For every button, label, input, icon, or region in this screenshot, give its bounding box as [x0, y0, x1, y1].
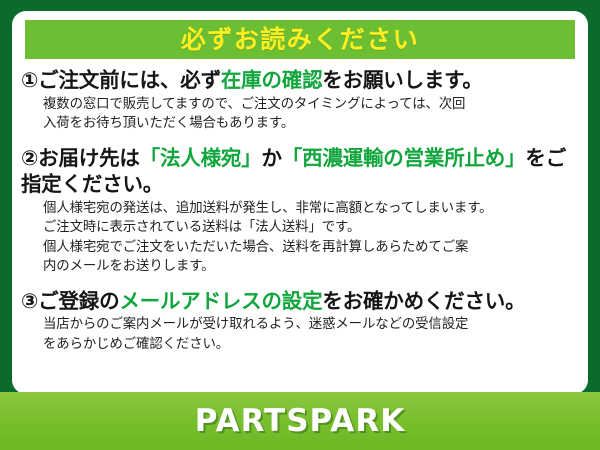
item-2-subtext-line-3: 個人様宅宛でご注文をいただいた場合、送料を再計算しあらためてご案 [43, 238, 579, 257]
brand-logo-text: PARTSPARK [195, 406, 406, 437]
item-2-head-highlight-1: 「法人様宛」 [140, 146, 262, 170]
item-2-head-part-3: か [261, 146, 281, 170]
list-item: ①ご注文前には、必ず在庫の確認をお願いします。 複数の窓口で販売してますので、ご… [21, 67, 579, 134]
item-3-head-highlight: メールアドレスの設定 [119, 289, 322, 313]
notice-title-bar: 必ずお読みください [25, 20, 575, 59]
item-1-subtext: 複数の窓口で販売してますので、ご注文のタイミングによっては、次回 入荷をお待ち頂… [43, 95, 579, 134]
item-1-head-highlight: 在庫の確認 [221, 68, 323, 92]
item-1-subtext-line-1: 複数の窓口で販売してますので、ご注文のタイミングによっては、次回 [43, 95, 579, 114]
item-2-subtext: 個人様宅宛の発送は、追加送料が発生し、非常に高額となってしまいます。 ご注文時に… [43, 199, 579, 277]
page-title: 必ずお読みください [181, 27, 420, 52]
item-2-marker: ② [21, 146, 38, 170]
item-2-heading: ②お届け先は「法人様宛」か「西濃運輸の営業所止め」をご指定ください。 [21, 145, 579, 198]
item-3-head-part-3: をお確かめください。 [322, 289, 525, 313]
notice-banner: 必ずお読みください ①ご注文前には、必ず在庫の確認をお願いします。 複数の窓口で… [0, 0, 600, 450]
item-1-heading: ①ご注文前には、必ず在庫の確認をお願いします。 [21, 67, 579, 94]
item-1-head-part-1: ご注文前には、必ず [38, 68, 221, 92]
item-2-subtext-line-1: 個人様宅宛の発送は、追加送料が発生し、非常に高額となってしまいます。 [43, 199, 579, 218]
list-item: ③ご登録のメールアドレスの設定をお確かめください。 当店からのご案内メールが受け… [21, 288, 579, 355]
item-2-subtext-line-2: ご注文時に表示されている送料は「法人送料」です。 [43, 218, 579, 237]
item-2-head-highlight-2: 「西濃運輸の営業所止め」 [282, 146, 526, 170]
item-1-marker: ① [21, 68, 38, 92]
item-3-subtext: 当店からのご案内メールが受け取れるよう、迷惑メールなどの受信設定 をあらかじめご… [43, 315, 579, 354]
item-3-heading: ③ご登録のメールアドレスの設定をお確かめください。 [21, 288, 579, 315]
list-item: ②お届け先は「法人様宛」か「西濃運輸の営業所止め」をご指定ください。 個人様宅宛… [21, 145, 579, 277]
item-1-subtext-line-2: 入荷をお待ち頂いただく場合もあります。 [43, 114, 579, 133]
item-3-head-part-1: ご登録の [38, 289, 119, 313]
notice-item-list: ①ご注文前には、必ず在庫の確認をお願いします。 複数の窓口で販売してますので、ご… [12, 67, 588, 354]
item-3-subtext-line-2: をあらかじめご確認ください。 [43, 335, 579, 354]
item-1-head-part-3: をお願いします。 [322, 68, 482, 92]
item-3-marker: ③ [21, 289, 38, 313]
item-3-subtext-line-1: 当店からのご案内メールが受け取れるよう、迷惑メールなどの受信設定 [43, 315, 579, 334]
item-2-head-part-1: お届け先は [38, 146, 140, 170]
item-2-subtext-line-4: 内のメールをお送りします。 [43, 257, 579, 276]
brand-footer-bar: PARTSPARK [0, 392, 600, 450]
notice-panel: 必ずお読みください ①ご注文前には、必ず在庫の確認をお願いします。 複数の窓口で… [12, 11, 588, 394]
